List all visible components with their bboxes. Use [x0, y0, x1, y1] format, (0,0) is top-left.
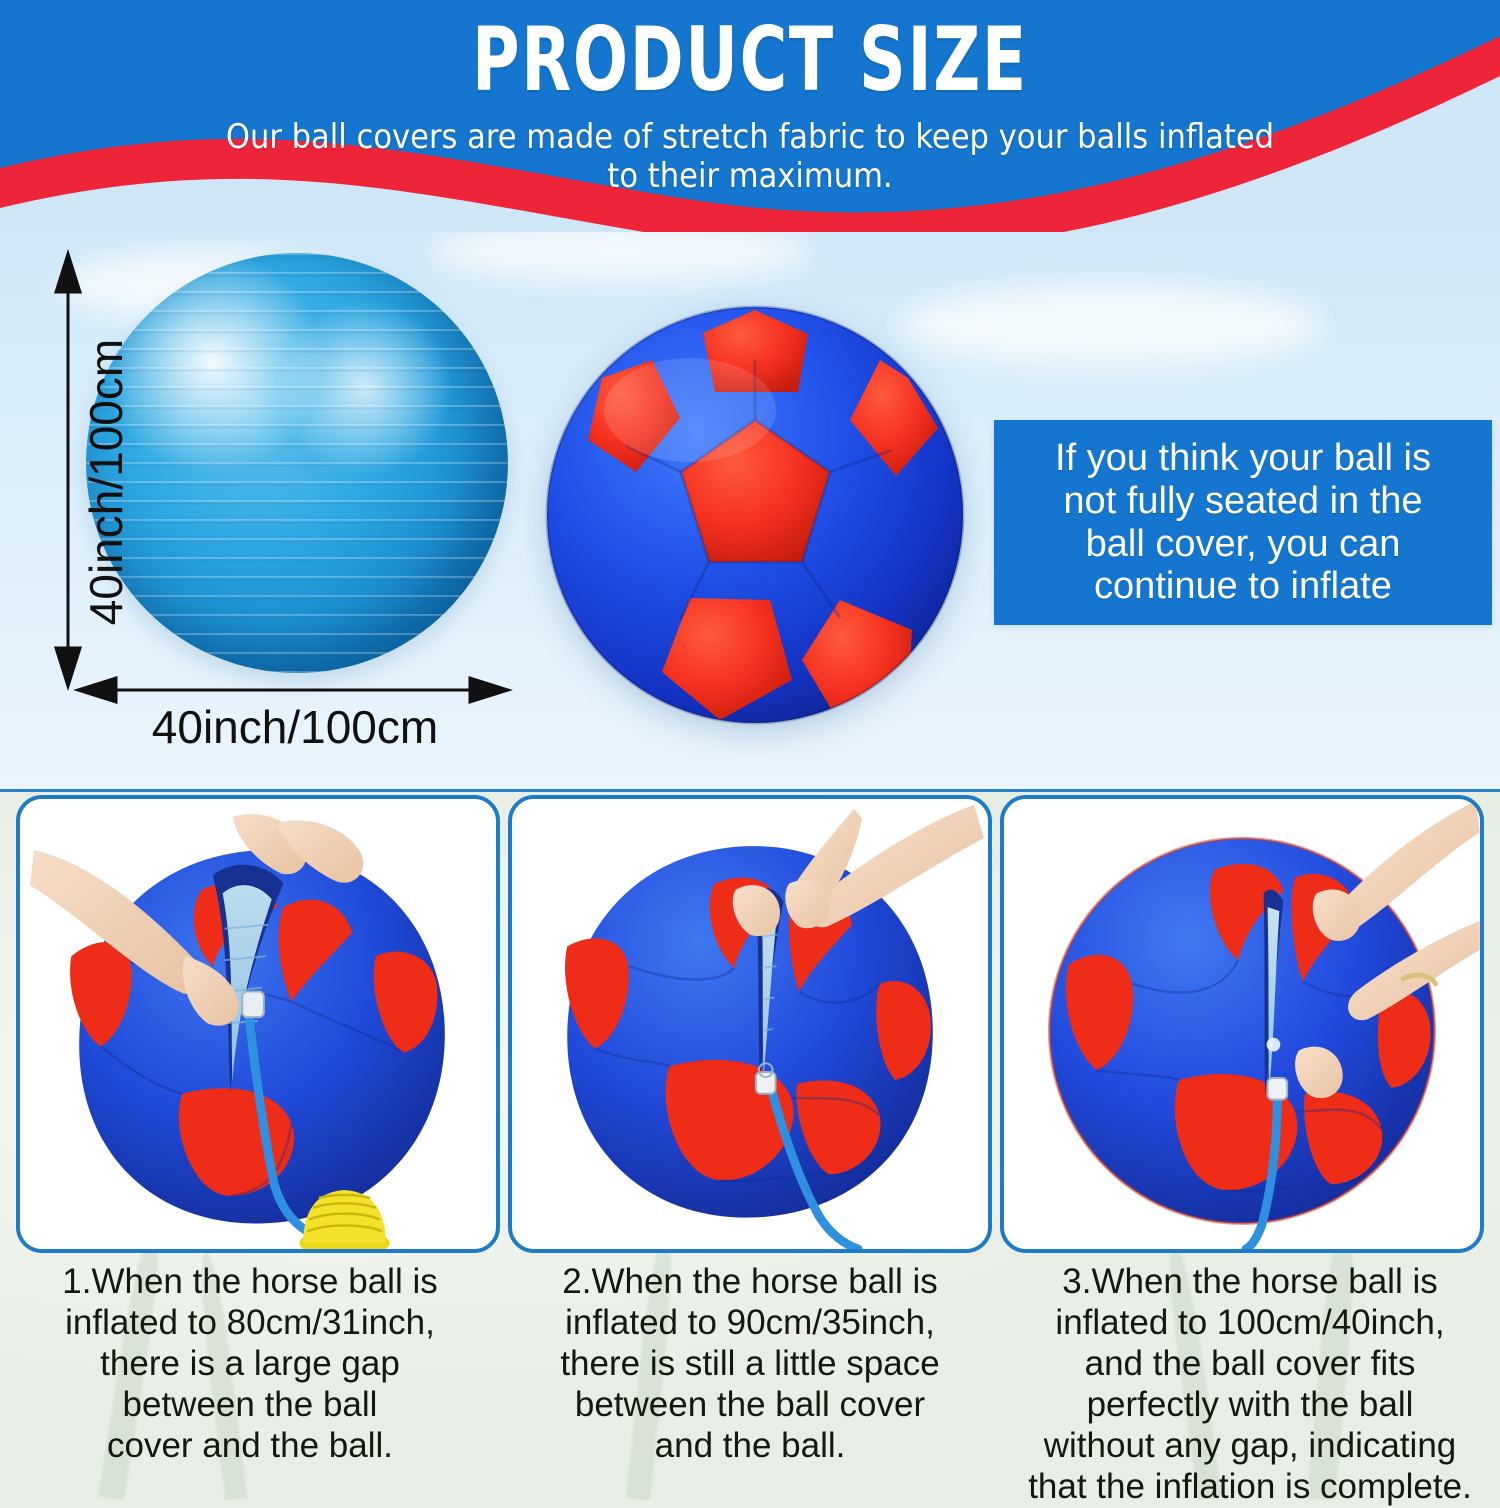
ball-cover-image [540, 300, 970, 730]
subtitle-line: Our ball covers are made of stretch fabr… [80, 118, 1420, 157]
caption-line: between the ball [10, 1385, 490, 1426]
step-photo-1 [16, 795, 500, 1253]
tip-line: not fully seated in the [1055, 480, 1431, 523]
exercise-ball-image [86, 253, 508, 673]
step-caption-1: 1.When the horse ball is inflated to 80c… [0, 1262, 500, 1508]
step-captions: 1.When the horse ball is inflated to 80c… [0, 1262, 1500, 1508]
page-title: PRODUCT SIZE [135, 8, 1365, 111]
step-caption-3: 3.When the horse ball is inflated to 100… [1000, 1262, 1500, 1508]
step-photo-2 [508, 795, 992, 1253]
caption-line: and the ball. [510, 1426, 990, 1467]
page-subtitle: Our ball covers are made of stretch fabr… [80, 118, 1420, 197]
caption-line: and the ball cover fits [1010, 1344, 1490, 1385]
ball-ribs-texture [86, 253, 508, 673]
caption-line: there is a large gap [10, 1344, 490, 1385]
subtitle-line: to their maximum. [80, 157, 1420, 196]
tip-line: ball cover, you can [1055, 523, 1431, 566]
step-photo-3 [1000, 795, 1484, 1253]
caption-line: without any gap, indicating [1010, 1426, 1490, 1467]
step-photo-panels [0, 795, 1500, 1255]
tip-line: continue to inflate [1055, 565, 1431, 608]
horizontal-dimension-label: 40inch/100cm [60, 700, 530, 754]
tip-line: If you think your ball is [1055, 437, 1431, 480]
caption-line: cover and the ball. [10, 1426, 490, 1467]
caption-line: 3.When the horse ball is [1010, 1262, 1490, 1303]
page-header: PRODUCT SIZE Our ball covers are made of… [0, 0, 1500, 232]
caption-line: 1.When the horse ball is [10, 1262, 490, 1303]
step-caption-2: 2.When the horse ball is inflated to 90c… [500, 1262, 1000, 1508]
vertical-dimension-label: 40inch/100cm [79, 332, 133, 632]
caption-line: there is still a little space [510, 1344, 990, 1385]
caption-line: between the ball cover [510, 1385, 990, 1426]
caption-line: 2.When the horse ball is [510, 1262, 990, 1303]
caption-line: inflated to 90cm/35inch, [510, 1303, 990, 1344]
inflate-tip-text: If you think your ball is not fully seat… [1041, 437, 1445, 607]
section-divider-line [0, 789, 1500, 792]
caption-line: inflated to 100cm/40inch, [1010, 1303, 1490, 1344]
caption-line: that the inflation is complete. [1010, 1467, 1490, 1508]
caption-line: inflated to 80cm/31inch, [10, 1303, 490, 1344]
caption-line: perfectly with the ball [1010, 1385, 1490, 1426]
inflate-tip-box: If you think your ball is not fully seat… [994, 420, 1492, 625]
